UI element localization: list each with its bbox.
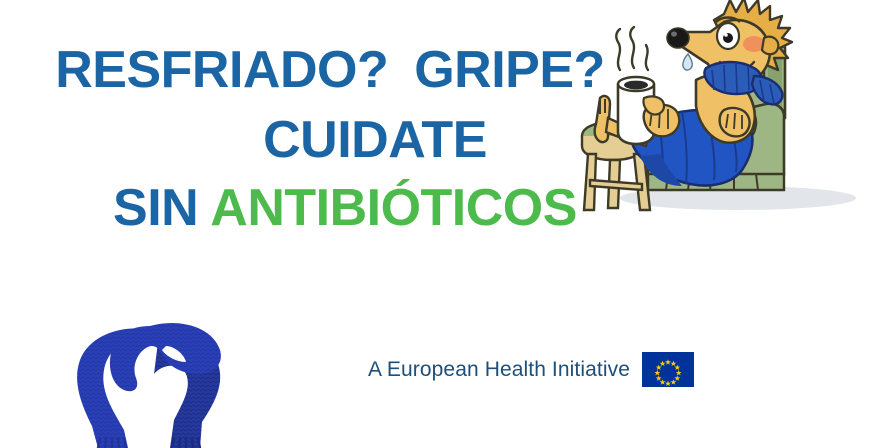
hedgehog-ear bbox=[762, 37, 778, 55]
hedgehog-nose-highlight bbox=[671, 31, 677, 36]
headline-word-gripe: GRIPE? bbox=[414, 41, 605, 99]
headline-word-antibioticos: ANTIBIÓTICOS bbox=[210, 179, 577, 237]
tagline-text: A European Health Initiative bbox=[368, 358, 630, 382]
hedgehog-eye-glint bbox=[724, 33, 728, 37]
headline-line-3: SIN ANTIBIÓTICOS bbox=[0, 182, 660, 234]
headline-block: RESFRIADO?GRIPE? CUIDATE SIN ANTIBIÓTICO… bbox=[0, 44, 660, 234]
footer-tagline-row: A European Health Initiative bbox=[368, 352, 694, 387]
headline-line-1: RESFRIADO?GRIPE? bbox=[0, 44, 660, 96]
eu-flag-stars bbox=[642, 352, 694, 387]
blue-knitted-scarf-graphic bbox=[62, 312, 247, 448]
headline-word-cuidate: CUIDATE bbox=[263, 111, 487, 169]
european-union-flag-icon bbox=[642, 352, 694, 387]
headline-word-resfriado: RESFRIADO? bbox=[55, 41, 388, 99]
headline-word-sin: SIN bbox=[113, 179, 198, 237]
scarf-illustration bbox=[62, 312, 247, 448]
poster-canvas: RESFRIADO?GRIPE? CUIDATE SIN ANTIBIÓTICO… bbox=[0, 0, 870, 448]
hedgehog-nose bbox=[667, 28, 689, 48]
nose-drip bbox=[683, 54, 692, 70]
headline-line-2: CUIDATE bbox=[0, 114, 660, 166]
